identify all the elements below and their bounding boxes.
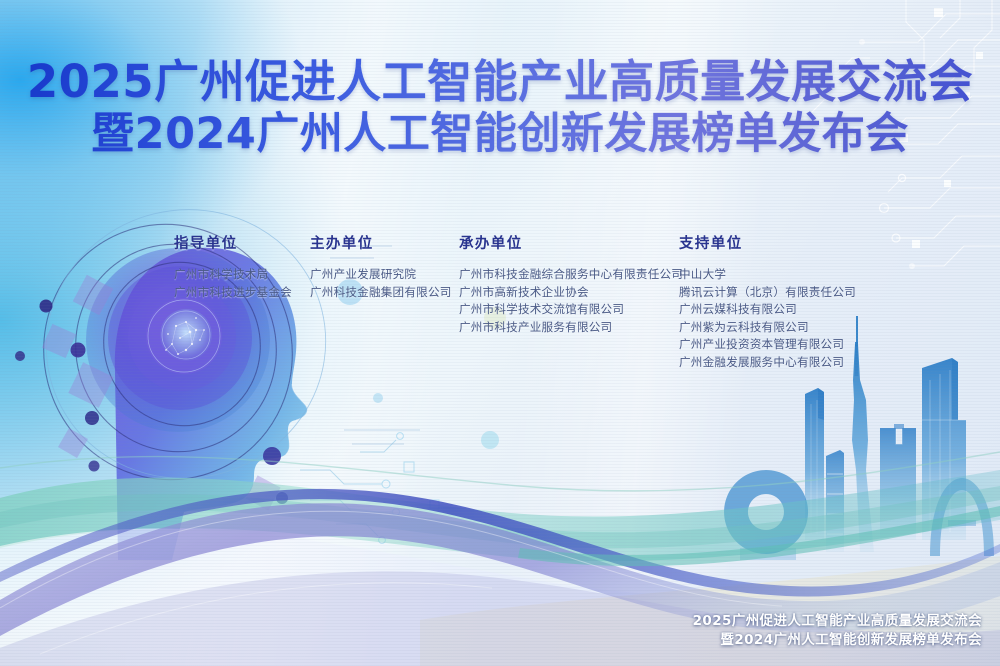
org-item: 中山大学: [679, 266, 856, 284]
org-item: 广州科技金融集团有限公司: [310, 284, 452, 302]
org-item: 广州市高新技术企业协会: [459, 284, 683, 302]
org-item: 广州市科学技术局: [174, 266, 292, 284]
org-heading: 指导单位: [174, 232, 292, 253]
org-item: 广州市科技金融综合服务中心有限责任公司: [459, 266, 683, 284]
corner-watermark: 2025广州促进人工智能产业高质量发展交流会 暨2024广州人工智能创新发展榜单…: [693, 612, 982, 650]
org-column-organizer: 承办单位 广州市科技金融综合服务中心有限责任公司 广州市高新技术企业协会 广州市…: [459, 232, 683, 336]
org-heading: 支持单位: [679, 232, 856, 253]
watermark-line-1: 2025广州促进人工智能产业高质量发展交流会: [693, 612, 982, 631]
org-column-guidance: 指导单位 广州市科学技术局 广州市科技进步基金会: [174, 232, 292, 301]
title-line-1: 2025广州促进人工智能产业高质量发展交流会: [0, 56, 1000, 108]
poster-stage: 2025广州促进人工智能产业高质量发展交流会 暨2024广州人工智能创新发展榜单…: [0, 0, 1000, 666]
title-line-2: 暨2024广州人工智能创新发展榜单发布会: [0, 108, 1000, 160]
org-item: 广州市科学技术交流馆有限公司: [459, 301, 683, 319]
org-item: 广州市科技产业服务有限公司: [459, 319, 683, 337]
org-item: 广州产业发展研究院: [310, 266, 452, 284]
org-item: 广州紫为云科技有限公司: [679, 319, 856, 337]
event-title: 2025广州促进人工智能产业高质量发展交流会 暨2024广州人工智能创新发展榜单…: [0, 56, 1000, 160]
org-heading: 承办单位: [459, 232, 683, 253]
org-item: 广州市科技进步基金会: [174, 284, 292, 302]
org-item: 广州云媒科技有限公司: [679, 301, 856, 319]
watermark-line-2: 暨2024广州人工智能创新发展榜单发布会: [693, 631, 982, 650]
org-heading: 主办单位: [310, 232, 452, 253]
org-item: 广州产业投资资本管理有限公司: [679, 336, 856, 354]
org-item: 广州金融发展服务中心有限公司: [679, 354, 856, 372]
org-column-support: 支持单位 中山大学 腾讯云计算（北京）有限责任公司 广州云媒科技有限公司 广州紫…: [679, 232, 856, 371]
org-column-host: 主办单位 广州产业发展研究院 广州科技金融集团有限公司: [310, 232, 452, 301]
org-item: 腾讯云计算（北京）有限责任公司: [679, 284, 856, 302]
